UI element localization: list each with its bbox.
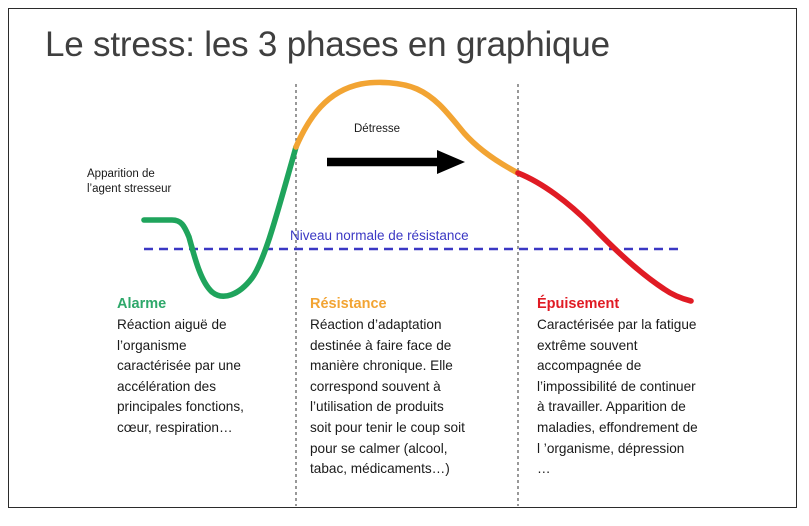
phase-body-epuisement: Caractérisée par la fatigue extrême souv…: [537, 315, 752, 480]
phase-heading-alarme: Alarme: [117, 295, 287, 314]
phase-column-resistance: Résistance Réaction d’adaptation destiné…: [310, 295, 510, 480]
curve-epuisement: [518, 173, 691, 301]
phase-column-alarme: Alarme Réaction aiguë de l’organisme car…: [117, 295, 287, 439]
phase-heading-resistance: Résistance: [310, 295, 510, 314]
stressor-onset-label: Apparition de l’agent stresseur: [87, 167, 247, 197]
detresse-arrow: [327, 150, 465, 174]
slide-stage: Le stress: les 3 phases en graphique App…: [9, 9, 795, 506]
slide-frame: Le stress: les 3 phases en graphique App…: [8, 8, 797, 508]
phase-body-alarme: Réaction aiguë de l’organisme caractéris…: [117, 315, 287, 439]
phase-body-resistance: Réaction d’adaptation destinée à faire f…: [310, 315, 510, 480]
distress-label: Détresse: [354, 122, 400, 137]
phase-column-epuisement: Épuisement Caractérisée par la fatigue e…: [537, 295, 752, 480]
resistance-level-label: Niveau normale de résistance: [290, 228, 469, 243]
phase-heading-epuisement: Épuisement: [537, 295, 752, 314]
